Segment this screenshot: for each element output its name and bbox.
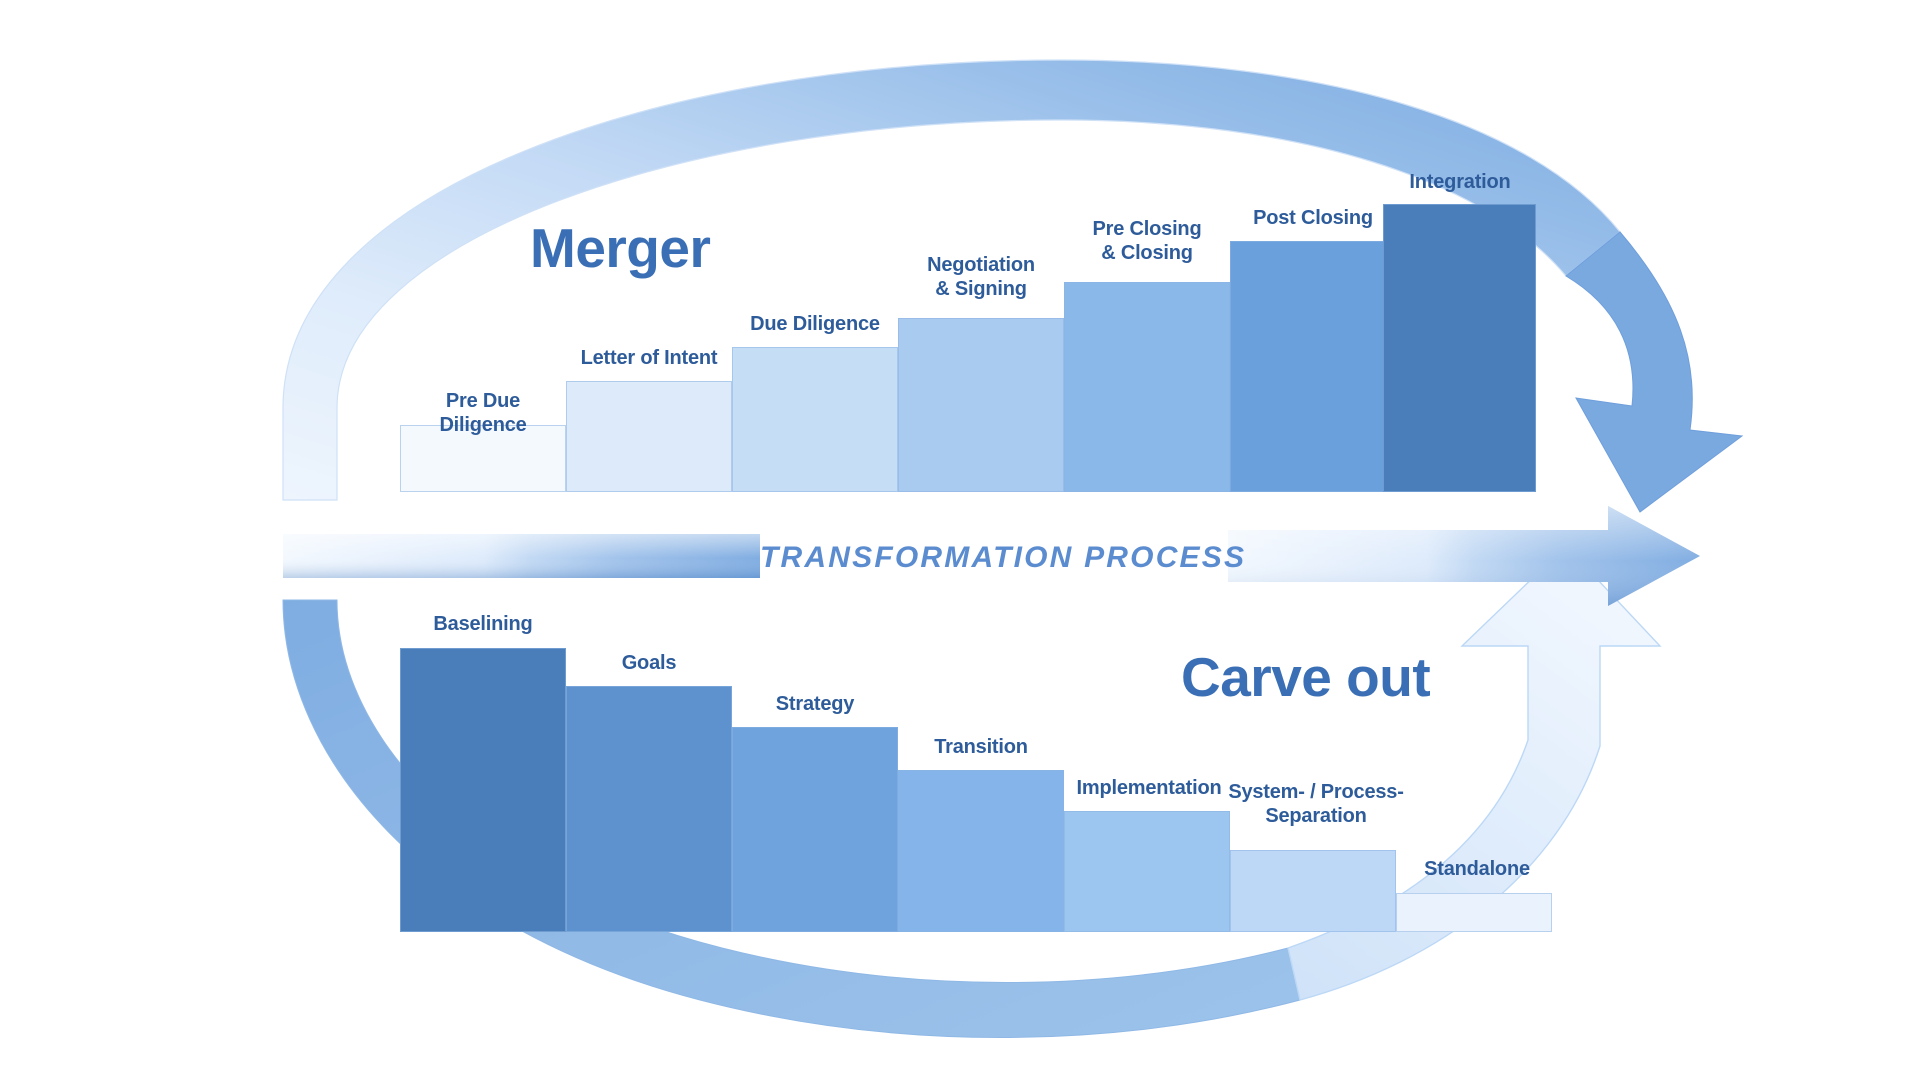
merger-bar-label-pre-due-diligence: Pre Due Diligence bbox=[398, 390, 568, 437]
merger-bar-label-negotiation-signing: Negotiation & Signing bbox=[894, 254, 1068, 301]
carveout-bar-label-goals: Goals bbox=[562, 652, 736, 676]
carveout-bar-label-transition: Transition bbox=[894, 736, 1068, 760]
carveout-bar-label-standalone: Standalone bbox=[1392, 858, 1562, 882]
carveout-bar-strategy[interactable] bbox=[732, 727, 898, 932]
diagram-canvas: Merger Pre Due Diligence Letter of Inten… bbox=[0, 0, 1918, 1073]
merger-bar-negotiation-signing[interactable] bbox=[898, 318, 1064, 492]
merger-bar-label-letter-of-intent: Letter of Intent bbox=[562, 347, 736, 371]
merger-bar-label-pre-closing-closing: Pre Closing & Closing bbox=[1060, 218, 1234, 265]
carveout-bar-system-process-separation[interactable] bbox=[1230, 850, 1396, 932]
carveout-bar-label-system-process-separation: System- / Process- Separation bbox=[1212, 781, 1420, 828]
carveout-bar-baselining[interactable] bbox=[400, 648, 566, 932]
merger-bar-due-diligence[interactable] bbox=[732, 347, 898, 492]
carveout-bar-transition[interactable] bbox=[898, 770, 1064, 932]
carveout-bar-label-strategy: Strategy bbox=[728, 693, 902, 717]
merger-bar-integration[interactable] bbox=[1383, 204, 1536, 492]
merger-title: Merger bbox=[530, 216, 710, 280]
carveout-bar-implementation[interactable] bbox=[1064, 811, 1230, 932]
merger-bar-label-integration: Integration bbox=[1379, 171, 1541, 195]
carveout-title: Carve out bbox=[1181, 645, 1430, 709]
carveout-bar-goals[interactable] bbox=[566, 686, 732, 932]
transformation-process-label: TRANSFORMATION PROCESS bbox=[760, 541, 1230, 575]
merger-bar-label-post-closing: Post Closing bbox=[1226, 207, 1400, 231]
carveout-bar-label-baselining: Baselining bbox=[396, 613, 570, 637]
merger-bar-post-closing[interactable] bbox=[1230, 241, 1396, 492]
merger-bar-pre-closing-closing[interactable] bbox=[1064, 282, 1230, 492]
merger-bar-label-due-diligence: Due Diligence bbox=[728, 313, 902, 337]
merger-bar-letter-of-intent[interactable] bbox=[566, 381, 732, 492]
carveout-bar-standalone[interactable] bbox=[1396, 893, 1552, 932]
